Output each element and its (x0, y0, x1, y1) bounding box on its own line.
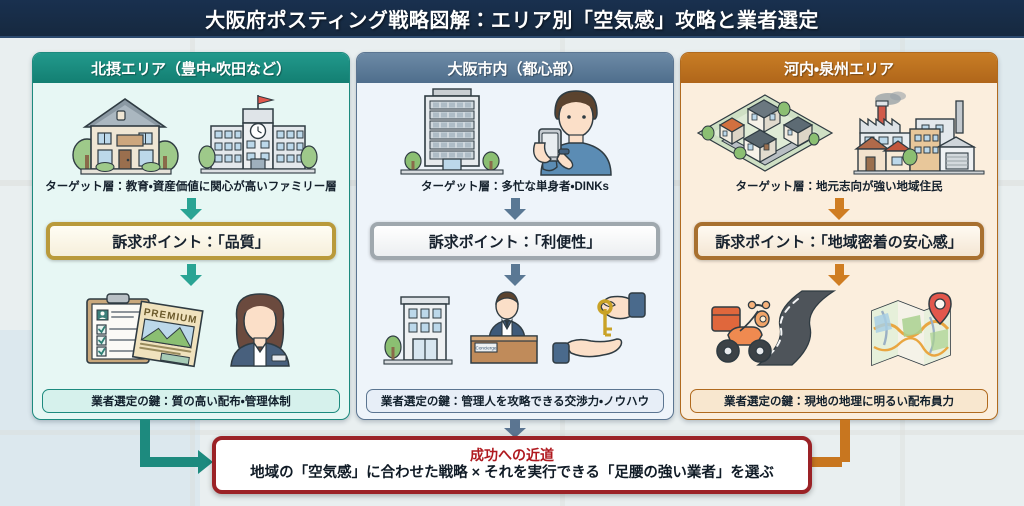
target-caption-osaka-city: ターゲット層：多忙な単身者・DINKs (421, 178, 609, 194)
kawachi-bottom-illustration (689, 286, 989, 370)
detached-house-icon (65, 93, 185, 175)
infographic-canvas: 大阪府ポスティング戦略図解：エリア別「空気感」攻略と業者選定 北摂エリア（豊中・… (0, 0, 1024, 506)
school-building-icon (199, 93, 317, 175)
concierge-desk-icon: Concierge (463, 291, 541, 365)
folded-map-pin-icon (868, 289, 972, 367)
appeal-point-osaka-city[interactable]: 訴求ポイント：「利便性」 (370, 222, 660, 260)
connector-kawachi-to-conclusion (800, 420, 890, 476)
area-card-hokusetsu[interactable]: 北摂エリア（豊中・吹田など） (32, 52, 350, 420)
key-caption-hokusetsu: 業者選定の鍵：質の高い配布・管理体制 (42, 389, 340, 413)
conclusion-title: 成功への近道 (470, 448, 554, 463)
conclusion-box[interactable]: 成功への近道 地域の「空気感」に合わせた戦略 × それを実行できる「足腰の強い業… (212, 436, 812, 494)
businesswoman-icon (217, 290, 303, 366)
desk-label: Concierge (476, 346, 497, 351)
clipboard-checklist-icon: PREMIUM (79, 291, 207, 365)
kawachi-top-illustration (689, 87, 989, 175)
key-handover-icon (551, 291, 647, 365)
man-with-smartphone-icon (519, 87, 631, 175)
appeal-point-hokusetsu[interactable]: 訴求ポイント：「品質」 (46, 222, 336, 260)
area-card-kawachi-senshu[interactable]: 河内・泉州エリア (680, 52, 998, 420)
arrow-down-kawachi-2 (832, 264, 846, 286)
delivery-scooter-icon (706, 289, 858, 367)
area-header-osaka-city: 大阪市内（都心部） (357, 53, 673, 83)
apartment-tower-icon (399, 87, 505, 175)
target-caption-kawachi: ターゲット層：地元志向が強い地域住民 (736, 178, 943, 194)
area-card-osaka-city[interactable]: 大阪市内（都心部） (356, 52, 674, 420)
hokusetsu-bottom-illustration: PREMIUM (41, 286, 341, 370)
factory-town-icon (852, 89, 986, 175)
arrow-down-osaka-city-2 (508, 264, 522, 286)
key-caption-kawachi: 業者選定の鍵：現地の地理に明るい配布員力 (690, 389, 988, 413)
appeal-point-kawachi[interactable]: 訴求ポイント：「地域密着の安心感」 (694, 222, 984, 260)
premium-flyer-icon: PREMIUM (133, 301, 203, 366)
conclusion-subtitle: 地域の「空気感」に合わせた戦略 × それを実行できる「足腰の強い業者」を選ぶ (250, 464, 774, 482)
residential-neighborhood-icon (692, 89, 838, 175)
page-title: 大阪府ポスティング戦略図解：エリア別「空気感」攻略と業者選定 (205, 4, 819, 33)
hokusetsu-top-illustration (41, 87, 341, 175)
arrow-down-hokusetsu-2 (184, 264, 198, 286)
target-caption-hokusetsu: ターゲット層：教育・資産価値に関心が高いファミリー層 (45, 178, 336, 194)
key-caption-osaka-city: 業者選定の鍵：管理人を攻略できる交渉力・ノウハウ (366, 389, 664, 413)
osaka-city-top-illustration (365, 87, 665, 175)
page-header: 大阪府ポスティング戦略図解：エリア別「空気感」攻略と業者選定 (0, 0, 1024, 38)
arrow-down-kawachi-1 (832, 198, 846, 220)
arrow-down-hokusetsu-1 (184, 198, 198, 220)
office-building-icon (383, 291, 453, 365)
area-header-kawachi-senshu: 河内・泉州エリア (681, 53, 997, 83)
area-header-hokusetsu: 北摂エリア（豊中・吹田など） (33, 53, 349, 83)
arrow-down-osaka-city-1 (508, 198, 522, 220)
osaka-city-bottom-illustration: Concierge (365, 286, 665, 370)
